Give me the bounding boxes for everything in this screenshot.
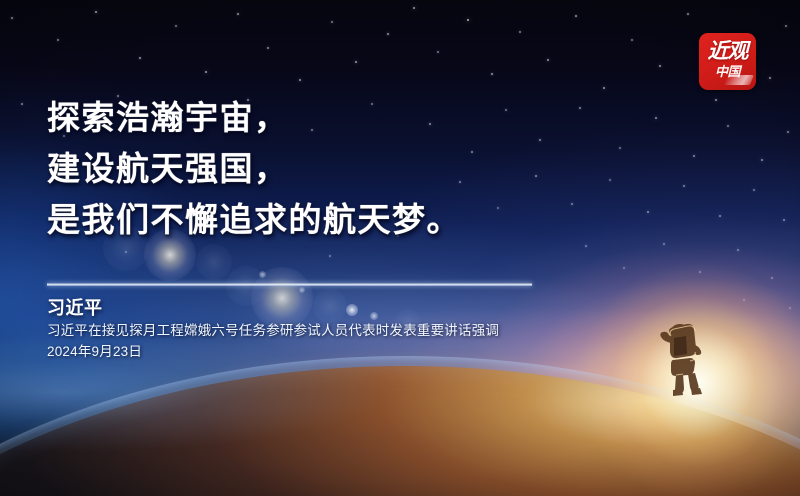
star-icon <box>237 13 239 15</box>
poster-canvas: 探索浩瀚宇宙， 建设航天强国， 是我们不懈追求的航天梦。 习近平 习近平在接见探… <box>0 0 800 496</box>
logo-top-text: 近观 <box>699 41 756 63</box>
star-icon <box>491 73 493 75</box>
star-icon <box>355 61 357 63</box>
star-icon <box>787 131 789 133</box>
attribution-block: 习近平 习近平在接见探月工程嫦娥六号任务参研参试人员代表时发表重要讲话强调 20… <box>47 297 747 362</box>
star-icon <box>687 13 689 15</box>
star-icon <box>789 307 791 309</box>
star-icon <box>761 159 763 161</box>
star-icon <box>547 59 549 61</box>
occasion-text: 习近平在接见探月工程嫦娥六号任务参研参试人员代表时发表重要讲话强调 <box>47 320 747 341</box>
atmosphere-arc <box>0 356 800 496</box>
star-icon <box>603 87 605 89</box>
star-icon <box>623 267 624 268</box>
star-icon <box>387 33 389 35</box>
speaker-name: 习近平 <box>47 297 747 320</box>
star-icon <box>631 39 632 40</box>
star-icon <box>413 7 415 9</box>
star-icon <box>57 39 58 40</box>
star-icon <box>139 57 141 59</box>
star-icon <box>437 51 438 52</box>
star-icon <box>519 31 520 32</box>
lens-flare-icon <box>299 287 305 293</box>
star-icon <box>699 271 701 273</box>
headline-line-3: 是我们不懈追求的航天梦。 <box>47 194 747 245</box>
star-icon <box>95 11 97 13</box>
star-icon <box>783 219 785 221</box>
star-icon <box>575 15 577 17</box>
star-icon <box>329 255 331 257</box>
headline-block: 探索浩瀚宇宙， 建设航天强国， 是我们不懈追求的航天梦。 <box>47 92 747 245</box>
star-icon <box>299 79 301 81</box>
star-icon <box>467 19 469 21</box>
date-text: 2024年9月23日 <box>47 341 747 362</box>
star-icon <box>769 77 771 79</box>
star-icon <box>785 25 787 27</box>
divider-rule <box>47 283 532 286</box>
lens-flare-icon <box>259 271 266 278</box>
star-icon <box>331 21 332 22</box>
star-icon <box>175 25 176 26</box>
logo-swoosh-icon <box>724 75 754 85</box>
star-icon <box>125 251 127 253</box>
star-icon <box>267 47 268 48</box>
star-icon <box>21 103 23 105</box>
headline-line-1: 探索浩瀚宇宙， <box>47 92 747 143</box>
lens-flare-icon <box>196 244 232 280</box>
jinguan-zhongguo-logo[interactable]: 近观 中国 <box>699 33 756 90</box>
star-icon <box>737 249 739 251</box>
star-icon <box>11 17 13 19</box>
headline-line-2: 建设航天强国， <box>47 143 747 194</box>
star-icon <box>771 277 773 279</box>
star-icon <box>753 189 754 190</box>
star-icon <box>205 71 207 73</box>
star-icon <box>659 65 661 67</box>
star-icon <box>585 245 587 247</box>
